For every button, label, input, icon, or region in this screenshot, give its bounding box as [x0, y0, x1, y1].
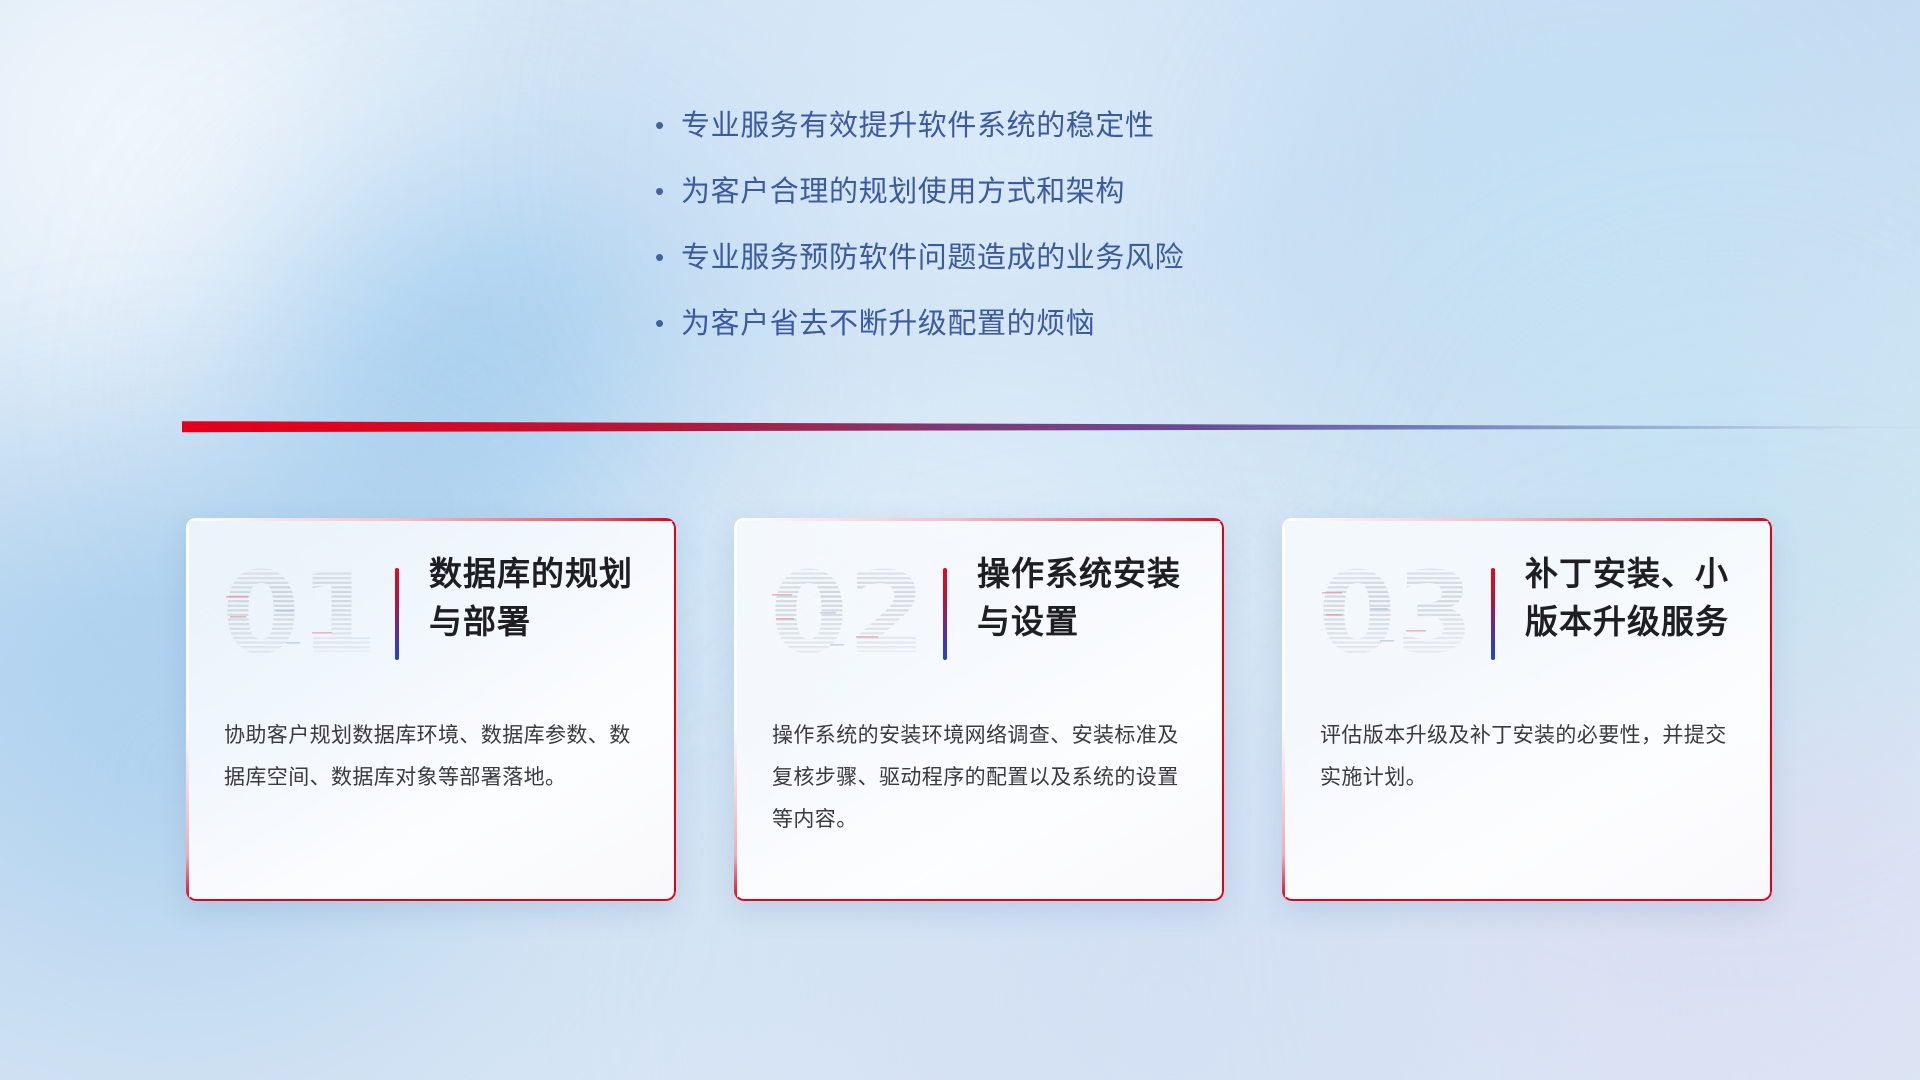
card-body-text: 评估版本升级及补丁安装的必要性，并提交实施计划。	[1320, 714, 1738, 798]
bullet-dot-icon: •	[655, 236, 681, 278]
card-accent-border-top	[186, 518, 676, 521]
card-number-watermark: 03	[1316, 554, 1466, 670]
bullet-text-1: 专业服务有效提升软件系统的稳定性	[681, 104, 1155, 146]
list-item: • 专业服务预防软件问题造成的业务风险	[655, 236, 1415, 278]
striped-number-icon: 01	[220, 554, 370, 670]
list-item: • 为客户省去不断升级配置的烦恼	[655, 302, 1415, 344]
card-number-watermark: 02	[768, 554, 918, 670]
card-title-line-1: 补丁安装、小	[1525, 550, 1755, 598]
card-number-text: 01	[222, 554, 370, 670]
list-item: • 为客户合理的规划使用方式和架构	[655, 170, 1415, 212]
list-item: • 专业服务有效提升软件系统的稳定性	[655, 104, 1415, 146]
card-title: 数据库的规划 与部署	[429, 550, 659, 646]
divider-shape-icon	[182, 418, 1920, 442]
card-header: 03 补丁安装、小 版本升级服务	[1282, 544, 1772, 684]
card-accent-bar	[395, 568, 399, 660]
card-header: 02 操作系统安装 与设置	[734, 544, 1224, 684]
card-accent-bar	[1491, 568, 1495, 660]
bullet-text-4: 为客户省去不断升级配置的烦恼	[681, 302, 1095, 344]
striped-number-icon: 02	[768, 554, 918, 670]
card-title-line-2: 与部署	[429, 598, 659, 646]
card-accent-border-top	[734, 518, 1224, 521]
card-header: 01 数据库的规划 与部署	[186, 544, 676, 684]
card-number-text: 02	[770, 554, 918, 670]
bullet-dot-icon: •	[655, 104, 681, 146]
card-title-line-2: 版本升级服务	[1525, 598, 1755, 646]
card-body-text: 操作系统的安装环境网络调查、安装标准及复核步骤、驱动程序的配置以及系统的设置等内…	[772, 714, 1190, 840]
bullet-text-3: 专业服务预防软件问题造成的业务风险	[681, 236, 1184, 278]
service-card-02[interactable]: 02 操作系统安装 与设置 操作系统的安装环境网络调查	[734, 518, 1224, 901]
card-accent-border-left	[186, 518, 189, 901]
card-accent-border-top	[1282, 518, 1772, 521]
bullet-dot-icon: •	[655, 302, 681, 344]
section-divider	[182, 418, 1920, 442]
benefits-bullet-list: • 专业服务有效提升软件系统的稳定性 • 为客户合理的规划使用方式和架构 • 专…	[655, 104, 1415, 368]
service-card-03[interactable]: 03 补丁安装、小 版本升级服务 评估版本升级及补丁安	[1282, 518, 1772, 901]
card-accent-border-left	[734, 518, 737, 901]
card-title-line-1: 数据库的规划	[429, 550, 659, 598]
card-title: 操作系统安装 与设置	[977, 550, 1207, 646]
bullet-text-2: 为客户合理的规划使用方式和架构	[681, 170, 1125, 212]
bullet-dot-icon: •	[655, 170, 681, 212]
card-number-watermark: 01	[220, 554, 370, 670]
card-title: 补丁安装、小 版本升级服务	[1525, 550, 1755, 646]
card-accent-bar	[943, 568, 947, 660]
card-body-text: 协助客户规划数据库环境、数据库参数、数据库空间、数据库对象等部署落地。	[224, 714, 642, 798]
card-title-line-2: 与设置	[977, 598, 1207, 646]
card-accent-border-left	[1282, 518, 1285, 901]
striped-number-icon: 03	[1316, 554, 1466, 670]
service-card-row: 01 数据库的规划 与部署 协助客户规划数据库环境、数	[0, 518, 1920, 918]
card-number-text: 03	[1318, 554, 1466, 670]
service-card-01[interactable]: 01 数据库的规划 与部署 协助客户规划数据库环境、数	[186, 518, 676, 901]
card-title-line-1: 操作系统安装	[977, 550, 1207, 598]
